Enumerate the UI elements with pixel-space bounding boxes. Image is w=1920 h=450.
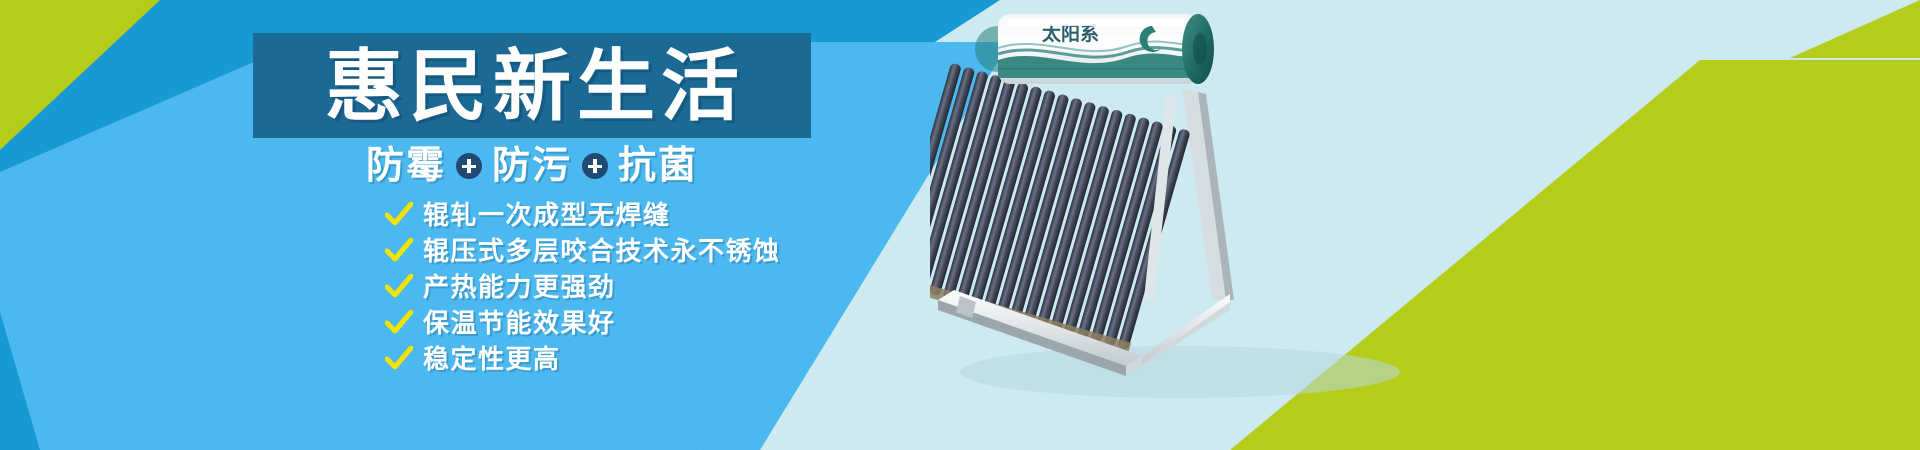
solar-water-heater-illustration: 太阳系	[930, 0, 1290, 380]
promo-banner: 惠民新生活 防霉 防污 抗菌 辊轧一次成型无焊缝 辊压式多层咬合技术永不锈蚀	[0, 0, 1920, 450]
headline-title: 惠民新生活	[319, 47, 745, 125]
headline-box: 惠民新生活	[253, 33, 811, 138]
feature-label: 稳定性更高	[423, 346, 561, 372]
feature-item: 产热能力更强劲	[385, 270, 873, 304]
subtitle-row: 防霉 防污 抗菌	[253, 140, 811, 192]
tank-left-rim	[975, 26, 998, 72]
base-rail-side-top	[1142, 294, 1230, 364]
subtitle-word-1: 防霉	[366, 147, 446, 185]
check-icon	[385, 346, 413, 372]
feature-list: 辊轧一次成型无焊缝 辊压式多层咬合技术永不锈蚀 产热能力更强劲 保温节能效果好	[253, 198, 873, 376]
subtitle-word-3: 抗菌	[618, 147, 698, 185]
product-image: 太阳系	[930, 0, 1290, 380]
feature-item: 稳定性更高	[385, 342, 873, 376]
check-icon	[385, 202, 413, 228]
check-icon	[385, 238, 413, 264]
plus-icon-1	[456, 153, 482, 179]
feature-label: 保温节能效果好	[423, 310, 616, 336]
text-content: 惠民新生活 防霉 防污 抗菌 辊轧一次成型无焊缝 辊压式多层咬合技术永不锈蚀	[0, 0, 1000, 450]
feature-item: 辊轧一次成型无焊缝	[385, 198, 873, 232]
feature-item: 辊压式多层咬合技术永不锈蚀	[385, 234, 873, 268]
check-icon	[385, 310, 413, 336]
check-icon	[385, 274, 413, 300]
feature-label: 产热能力更强劲	[423, 274, 616, 300]
subtitle-word-2: 防污	[492, 147, 572, 185]
storage-tank: 太阳系	[975, 14, 1214, 84]
tank-highlight	[1008, 19, 1184, 26]
tank-end-cap-inner	[1193, 33, 1207, 65]
plus-icon-2	[582, 153, 608, 179]
feature-label: 辊轧一次成型无焊缝	[423, 202, 671, 228]
tank-base-stripe	[998, 68, 1198, 78]
feature-label: 辊压式多层咬合技术永不锈蚀	[423, 238, 781, 264]
feature-item: 保温节能效果好	[385, 306, 873, 340]
